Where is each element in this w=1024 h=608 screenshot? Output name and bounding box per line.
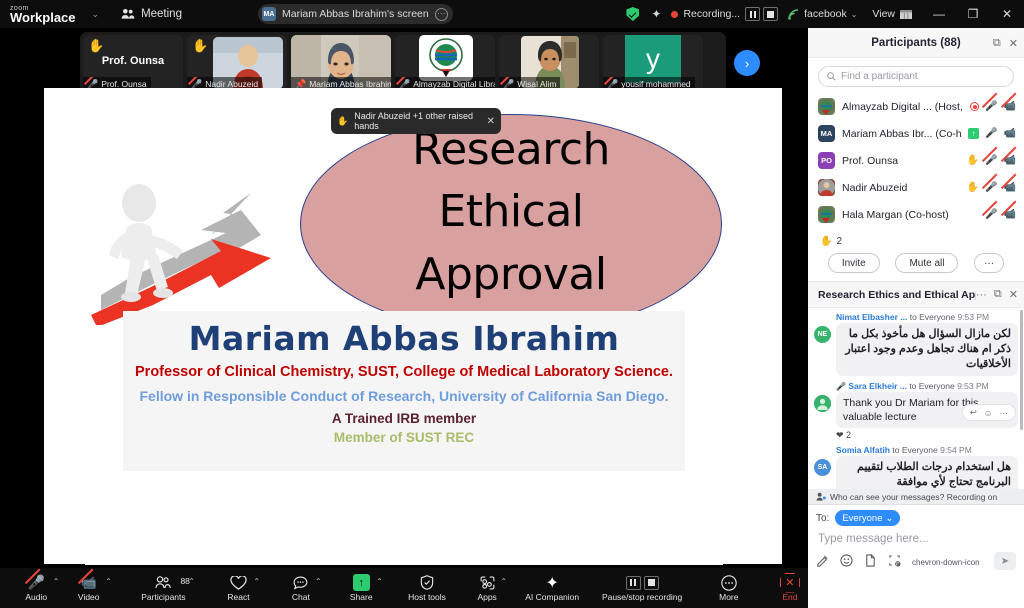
audio-label: Audio bbox=[25, 592, 47, 602]
chat-time: 9:53 PM bbox=[957, 381, 989, 391]
view-menu[interactable]: View bbox=[862, 8, 922, 20]
chat-panel: Research Ethics and Ethical Appro... ···… bbox=[808, 281, 1024, 574]
chat-message: SA Somia Alfatih to Everyone 9:54 PM هل … bbox=[814, 445, 1018, 494]
host-tools-button[interactable]: Host tools bbox=[400, 568, 454, 608]
video-tile-mariam-abbas-ibrahim[interactable]: 📌 Mariam Abbas Ibrahim bbox=[291, 35, 391, 91]
stop-recording-icon[interactable] bbox=[644, 576, 659, 590]
raised-hand-count: ✋ 2 bbox=[808, 230, 1024, 251]
video-tile-thumbnail bbox=[419, 35, 473, 81]
avatar: PO bbox=[818, 152, 835, 169]
ai-companion-button[interactable]: ✦ AI Companion bbox=[520, 568, 584, 608]
chat-message-text: لكن مازال السؤال هل مأخوذ بكل ما ذكر ام … bbox=[836, 323, 1018, 376]
video-tile-prof-ounsa[interactable]: ✋ Prof. Ounsa 🎤 Prof. Ounsa bbox=[83, 35, 183, 91]
react-label: React bbox=[227, 592, 249, 602]
more-button[interactable]: More bbox=[710, 568, 748, 608]
participant-name: Hala Margan (Co-host) bbox=[842, 209, 978, 221]
privacy-person-icon bbox=[816, 492, 826, 501]
heart-icon bbox=[230, 576, 247, 590]
apps-button[interactable]: Apps ⌃ bbox=[468, 568, 506, 608]
sparkle-icon: ✦ bbox=[546, 573, 559, 593]
search-icon bbox=[827, 72, 836, 81]
chat-recipient: to Everyone bbox=[910, 312, 955, 322]
people-icon bbox=[121, 8, 135, 20]
raised-hand-count-value: 2 bbox=[836, 236, 842, 247]
presenter-bio-block: Mariam Abbas Ibrahim Professor of Clinic… bbox=[123, 311, 685, 471]
zoom-logo: zoom Workplace bbox=[10, 5, 76, 24]
audio-button[interactable]: 🎤 Audio ⌃ bbox=[14, 568, 58, 608]
avatar-initial: y bbox=[646, 43, 660, 75]
video-button[interactable]: 📹 Video ⌃ bbox=[66, 568, 110, 608]
mute-all-button[interactable]: Mute all bbox=[895, 253, 958, 273]
presenter-name: Mariam Abbas Ibrahim bbox=[131, 321, 677, 358]
participant-row[interactable]: MA Mariam Abbas Ibr... (Co-host) ↑ 🎤 📹 bbox=[808, 120, 1024, 147]
avatar bbox=[818, 206, 835, 223]
chat-time: 9:53 PM bbox=[957, 312, 989, 322]
recording-label: Recording... bbox=[683, 8, 740, 20]
apps-chevron-up-icon[interactable]: ⌃ bbox=[500, 577, 507, 586]
participant-row[interactable]: Hala Margan (Co-host) 🎤 📹 bbox=[808, 201, 1024, 228]
meeting-toolbar: 🎤 Audio ⌃ 📹 Video ⌃ Participants 88 ⌃ Re… bbox=[0, 568, 808, 608]
chat-message-text: هل استخدام درجات الطلاب لتقييم البرنامج … bbox=[836, 456, 1018, 494]
chat-message-hover-actions[interactable]: ↩ ☺ ··· bbox=[962, 404, 1016, 421]
filmstrip-next-button[interactable]: › bbox=[734, 50, 760, 76]
chat-header: Research Ethics and Ethical Appro... ···… bbox=[808, 282, 1024, 308]
participants-search-wrap: Find a participant bbox=[808, 58, 1024, 93]
zoom-wordmark: Workplace bbox=[10, 11, 76, 24]
avatar bbox=[818, 98, 835, 115]
participant-row[interactable]: PO Prof. Ounsa ✋ 🎤 📹 bbox=[808, 147, 1024, 174]
share-avatar: MA bbox=[262, 7, 276, 21]
close-button[interactable]: ✕ bbox=[990, 0, 1024, 28]
title-bar-right: ✦ Recording... facebook ⌄ View — ❐ ✕ bbox=[620, 0, 1024, 28]
screen-share-pill[interactable]: MA Mariam Abbas Ibrahim's screen ··· bbox=[258, 4, 453, 24]
minimize-button[interactable]: — bbox=[922, 0, 956, 28]
chat-message: NE Nimat Elbasher ... to Everyone 9:53 P… bbox=[814, 312, 1018, 376]
chat-scrollbar[interactable] bbox=[1020, 310, 1023, 430]
view-label: View bbox=[872, 8, 895, 20]
ai-sparkle-icon[interactable]: ✦ bbox=[645, 7, 667, 21]
recording-dot-icon bbox=[671, 11, 678, 18]
chat-button[interactable]: Chat ⌃ bbox=[281, 568, 321, 608]
chat-time: 9:54 PM bbox=[940, 445, 972, 455]
right-side-panel: Participants (88) ⧉ ✕ Find a participant… bbox=[808, 28, 1024, 608]
message-input[interactable]: Type message here... bbox=[816, 526, 1016, 554]
mic-on-icon[interactable]: 🎤 bbox=[985, 128, 997, 139]
participants-header: Participants (88) ⧉ ✕ bbox=[808, 28, 1024, 58]
broadcast-icon bbox=[788, 9, 800, 20]
raised-hand-icon: ✋ bbox=[967, 155, 979, 166]
camera-off-icon[interactable]: 📹 bbox=[1004, 101, 1016, 112]
participants-list: Almayzab Digital ... (Host, me) 🎤 📹 MA M… bbox=[808, 93, 1024, 230]
screen-share-icon: ↑ bbox=[968, 128, 979, 139]
share-screen-icon: ↑ bbox=[353, 574, 370, 591]
screenshot-icon[interactable] bbox=[888, 554, 901, 570]
avatar: MA bbox=[818, 125, 835, 142]
participants-popout-icon[interactable]: ⧉ bbox=[993, 37, 1001, 50]
mic-off-icon[interactable]: 🎤 bbox=[985, 155, 997, 166]
raised-hands-toast[interactable]: ✋ Nadir Abuzeid +1 other raised hands ✕ bbox=[331, 108, 501, 134]
participant-filmstrip: ✋ Prof. Ounsa 🎤 Prof. Ounsa ✋ 🎤 Nadir Ab… bbox=[80, 32, 726, 94]
facebook-live-menu[interactable]: facebook ⌄ bbox=[779, 8, 862, 20]
facebook-chevron-down-icon: ⌄ bbox=[851, 10, 858, 19]
chat-message-list[interactable]: NE Nimat Elbasher ... to Everyone 9:53 P… bbox=[808, 308, 1024, 504]
workspace-chevron-down-icon[interactable]: ⌄ bbox=[92, 9, 100, 20]
people-icon bbox=[155, 576, 171, 589]
video-tile-avatar: y bbox=[625, 35, 681, 83]
chat-composer: To: Everyone ⌄ Type message here... bbox=[808, 504, 1024, 574]
format-icon[interactable] bbox=[816, 554, 829, 570]
recording-indicator[interactable]: Recording... bbox=[667, 8, 744, 20]
mic-off-icon[interactable]: 🎤 bbox=[985, 209, 997, 220]
chat-recipient: to Everyone bbox=[892, 445, 937, 455]
presenter-rec-line: Member of SUST REC bbox=[131, 430, 677, 445]
pause-stop-recording-button[interactable]: Pause/stop recording bbox=[594, 568, 690, 608]
chat-privacy-note[interactable]: Who can see your messages? Recording on bbox=[808, 489, 1024, 504]
raised-hands-toast-text: Nadir Abuzeid +1 other raised hands bbox=[354, 111, 480, 131]
raised-hand-icon: ✋ bbox=[192, 38, 208, 54]
more-label: More bbox=[719, 592, 738, 602]
camera-off-icon[interactable]: 📹 bbox=[1004, 155, 1016, 166]
participant-name: Prof. Ounsa bbox=[842, 155, 960, 167]
audio-chevron-up-icon[interactable]: ⌃ bbox=[53, 577, 60, 586]
message-more-icon[interactable]: ··· bbox=[1000, 408, 1009, 418]
participants-button[interactable]: Participants 88 ⌃ bbox=[133, 568, 194, 608]
chevron-down-icon: ⌄ bbox=[885, 513, 893, 524]
meeting-tab[interactable]: Meeting bbox=[121, 8, 182, 20]
end-label: End bbox=[782, 592, 797, 602]
avatar bbox=[814, 395, 831, 412]
ai-companion-label: AI Companion bbox=[525, 592, 579, 602]
title-bar: zoom Workplace ⌄ Meeting MA Mariam Abbas… bbox=[0, 0, 1024, 28]
slide-title-line-3: Approval bbox=[300, 244, 722, 306]
participant-row[interactable]: Almayzab Digital ... (Host, me) 🎤 📹 bbox=[808, 93, 1024, 120]
react-button[interactable]: React ⌃ bbox=[218, 568, 259, 608]
video-tile-yousif-mohammed[interactable]: y 🎤 yousif mohammed bbox=[603, 35, 703, 91]
end-call-icon: ✕ bbox=[780, 573, 800, 593]
raised-hand-icon: ✋ bbox=[967, 182, 979, 193]
video-label: Video bbox=[78, 592, 100, 602]
facebook-label: facebook bbox=[804, 8, 847, 20]
pause-stop-recording-label: Pause/stop recording bbox=[602, 592, 682, 602]
share-pill-label: Mariam Abbas Ibrahim's screen bbox=[282, 8, 429, 20]
raised-hand-icon: ✋ bbox=[88, 38, 104, 54]
reply-icon[interactable]: ↩ bbox=[970, 407, 977, 418]
chat-recipient-row: To: Everyone ⌄ bbox=[816, 510, 1016, 526]
participants-more-button[interactable]: ··· bbox=[974, 253, 1004, 273]
send-button[interactable]: ➤ bbox=[994, 552, 1016, 570]
chat-title: Research Ethics and Ethical Appro... bbox=[818, 289, 976, 301]
chat-sender: Nimat Elbasher ... bbox=[836, 312, 907, 322]
share-button[interactable]: ↑ Share ⌃ bbox=[341, 568, 382, 608]
stop-recording-button[interactable] bbox=[761, 7, 779, 21]
end-meeting-button[interactable]: ✕ End bbox=[772, 568, 808, 608]
camera-off-icon[interactable]: 📹 bbox=[1004, 182, 1016, 193]
chevron-down-icon[interactable]: chevron-down-icon bbox=[912, 558, 980, 567]
recipient-select[interactable]: Everyone ⌄ bbox=[835, 510, 900, 526]
to-label: To: bbox=[816, 513, 829, 524]
mic-off-icon: 🎤 bbox=[28, 574, 45, 591]
chat-sender: Somia Alfatih bbox=[836, 445, 890, 455]
avatar bbox=[818, 179, 835, 196]
presenter-irb-line: A Trained IRB member bbox=[131, 411, 677, 426]
video-tile-almayzab-digital-library[interactable]: 🎤 Almayzab Digital Libra... bbox=[395, 35, 495, 91]
privacy-note-text: Who can see your messages? Recording on bbox=[830, 492, 997, 502]
maximize-button[interactable]: ❐ bbox=[956, 0, 990, 28]
mic-off-icon[interactable]: 🎤 bbox=[985, 101, 997, 112]
chat-message-meta: Nimat Elbasher ... to Everyone 9:53 PM bbox=[836, 312, 1018, 322]
video-tile-nadir-abuzeid[interactable]: ✋ 🎤 Nadir Abuzeid bbox=[187, 35, 287, 91]
close-icon[interactable]: ✕ bbox=[487, 116, 495, 127]
pause-recording-icon[interactable] bbox=[626, 576, 641, 590]
invite-button[interactable]: Invite bbox=[828, 253, 880, 273]
participants-close-icon[interactable]: ✕ bbox=[1009, 37, 1018, 50]
participant-row[interactable]: Nadir Abuzeid ✋ 🎤 📹 bbox=[808, 174, 1024, 201]
presentation-slide: Research Ethical Approval Mariam Abbas I… bbox=[85, 95, 723, 565]
chat-sender: Sara Elkheir ... bbox=[848, 381, 907, 391]
recording-icon bbox=[970, 102, 979, 111]
emoji-icon[interactable] bbox=[840, 554, 853, 570]
video-tile-wisal-alim[interactable]: 🎤 Wisal Alim bbox=[499, 35, 599, 91]
emoji-reaction-icon[interactable]: ☺ bbox=[984, 408, 993, 418]
chat-more-icon[interactable]: ··· bbox=[976, 289, 987, 301]
share-more-icon[interactable]: ··· bbox=[435, 8, 448, 21]
chat-close-icon[interactable]: ✕ bbox=[1009, 288, 1018, 301]
presenter-fellowship-line: Fellow in Responsible Conduct of Researc… bbox=[131, 387, 677, 405]
participants-title: Participants (88) bbox=[871, 37, 960, 49]
apps-label: Apps bbox=[477, 592, 496, 602]
chat-label: Chat bbox=[292, 592, 310, 602]
participant-name: Nadir Abuzeid bbox=[842, 182, 960, 194]
decorative-path-illustration bbox=[91, 155, 291, 325]
host-tools-label: Host tools bbox=[408, 592, 446, 602]
ellipsis-icon bbox=[721, 575, 737, 591]
chat-chevron-up-icon[interactable]: ⌃ bbox=[315, 577, 322, 586]
share-chevron-up-icon[interactable]: ⌃ bbox=[376, 577, 383, 586]
shield-icon bbox=[420, 575, 434, 590]
search-input[interactable]: Find a participant bbox=[818, 66, 1014, 87]
video-tile-display-name: Prof. Ounsa bbox=[83, 55, 183, 67]
file-icon[interactable] bbox=[864, 554, 877, 570]
react-chevron-up-icon[interactable]: ⌃ bbox=[253, 577, 260, 586]
composer-tools: chevron-down-icon ➤ bbox=[816, 554, 1016, 570]
avatar: SA bbox=[814, 459, 831, 476]
participants-label: Participants bbox=[141, 592, 185, 602]
slide-title: Research Ethical Approval bbox=[300, 119, 722, 306]
share-label: Share bbox=[350, 592, 373, 602]
chat-recipient: to Everyone bbox=[909, 381, 954, 391]
raised-hand-icon: ✋ bbox=[337, 116, 348, 127]
avatar: NE bbox=[814, 326, 831, 343]
participant-name: Almayzab Digital ... (Host, me) bbox=[842, 101, 963, 113]
raised-hand-icon: ✋ bbox=[820, 236, 832, 247]
participants-chevron-up-icon[interactable]: ⌃ bbox=[188, 577, 195, 586]
camera-off-icon: 📹 bbox=[81, 575, 97, 591]
participant-name: Mariam Abbas Ibr... (Co-host) bbox=[842, 128, 961, 140]
presenter-title-line: Professor of Clinical Chemistry, SUST, C… bbox=[131, 363, 677, 382]
chat-popout-icon[interactable]: ⧉ bbox=[994, 288, 1002, 301]
chat-message-meta: 🎤 Sara Elkheir ... to Everyone 9:53 PM bbox=[836, 381, 1018, 391]
chat-message-reaction[interactable]: ❤ 2 bbox=[836, 430, 1018, 441]
camera-on-icon[interactable]: 📹 bbox=[1004, 128, 1016, 139]
mic-off-icon[interactable]: 🎤 bbox=[985, 182, 997, 193]
slide-title-line-2: Ethical bbox=[300, 181, 722, 243]
meeting-label: Meeting bbox=[141, 8, 182, 20]
video-chevron-up-icon[interactable]: ⌃ bbox=[105, 577, 112, 586]
chat-message-meta: Somia Alfatih to Everyone 9:54 PM bbox=[836, 445, 1018, 455]
grid-view-icon bbox=[900, 9, 912, 20]
mic-icon: 🎤 bbox=[836, 382, 846, 391]
participants-actions: Invite Mute all ··· bbox=[808, 251, 1024, 281]
recipient-value: Everyone bbox=[842, 513, 882, 524]
chat-bubble-icon bbox=[293, 576, 308, 590]
pause-recording-button[interactable] bbox=[744, 7, 761, 21]
camera-off-icon[interactable]: 📹 bbox=[1004, 209, 1016, 220]
search-placeholder: Find a participant bbox=[841, 71, 918, 82]
encryption-shield-icon[interactable] bbox=[620, 7, 645, 21]
apps-icon bbox=[480, 576, 495, 590]
